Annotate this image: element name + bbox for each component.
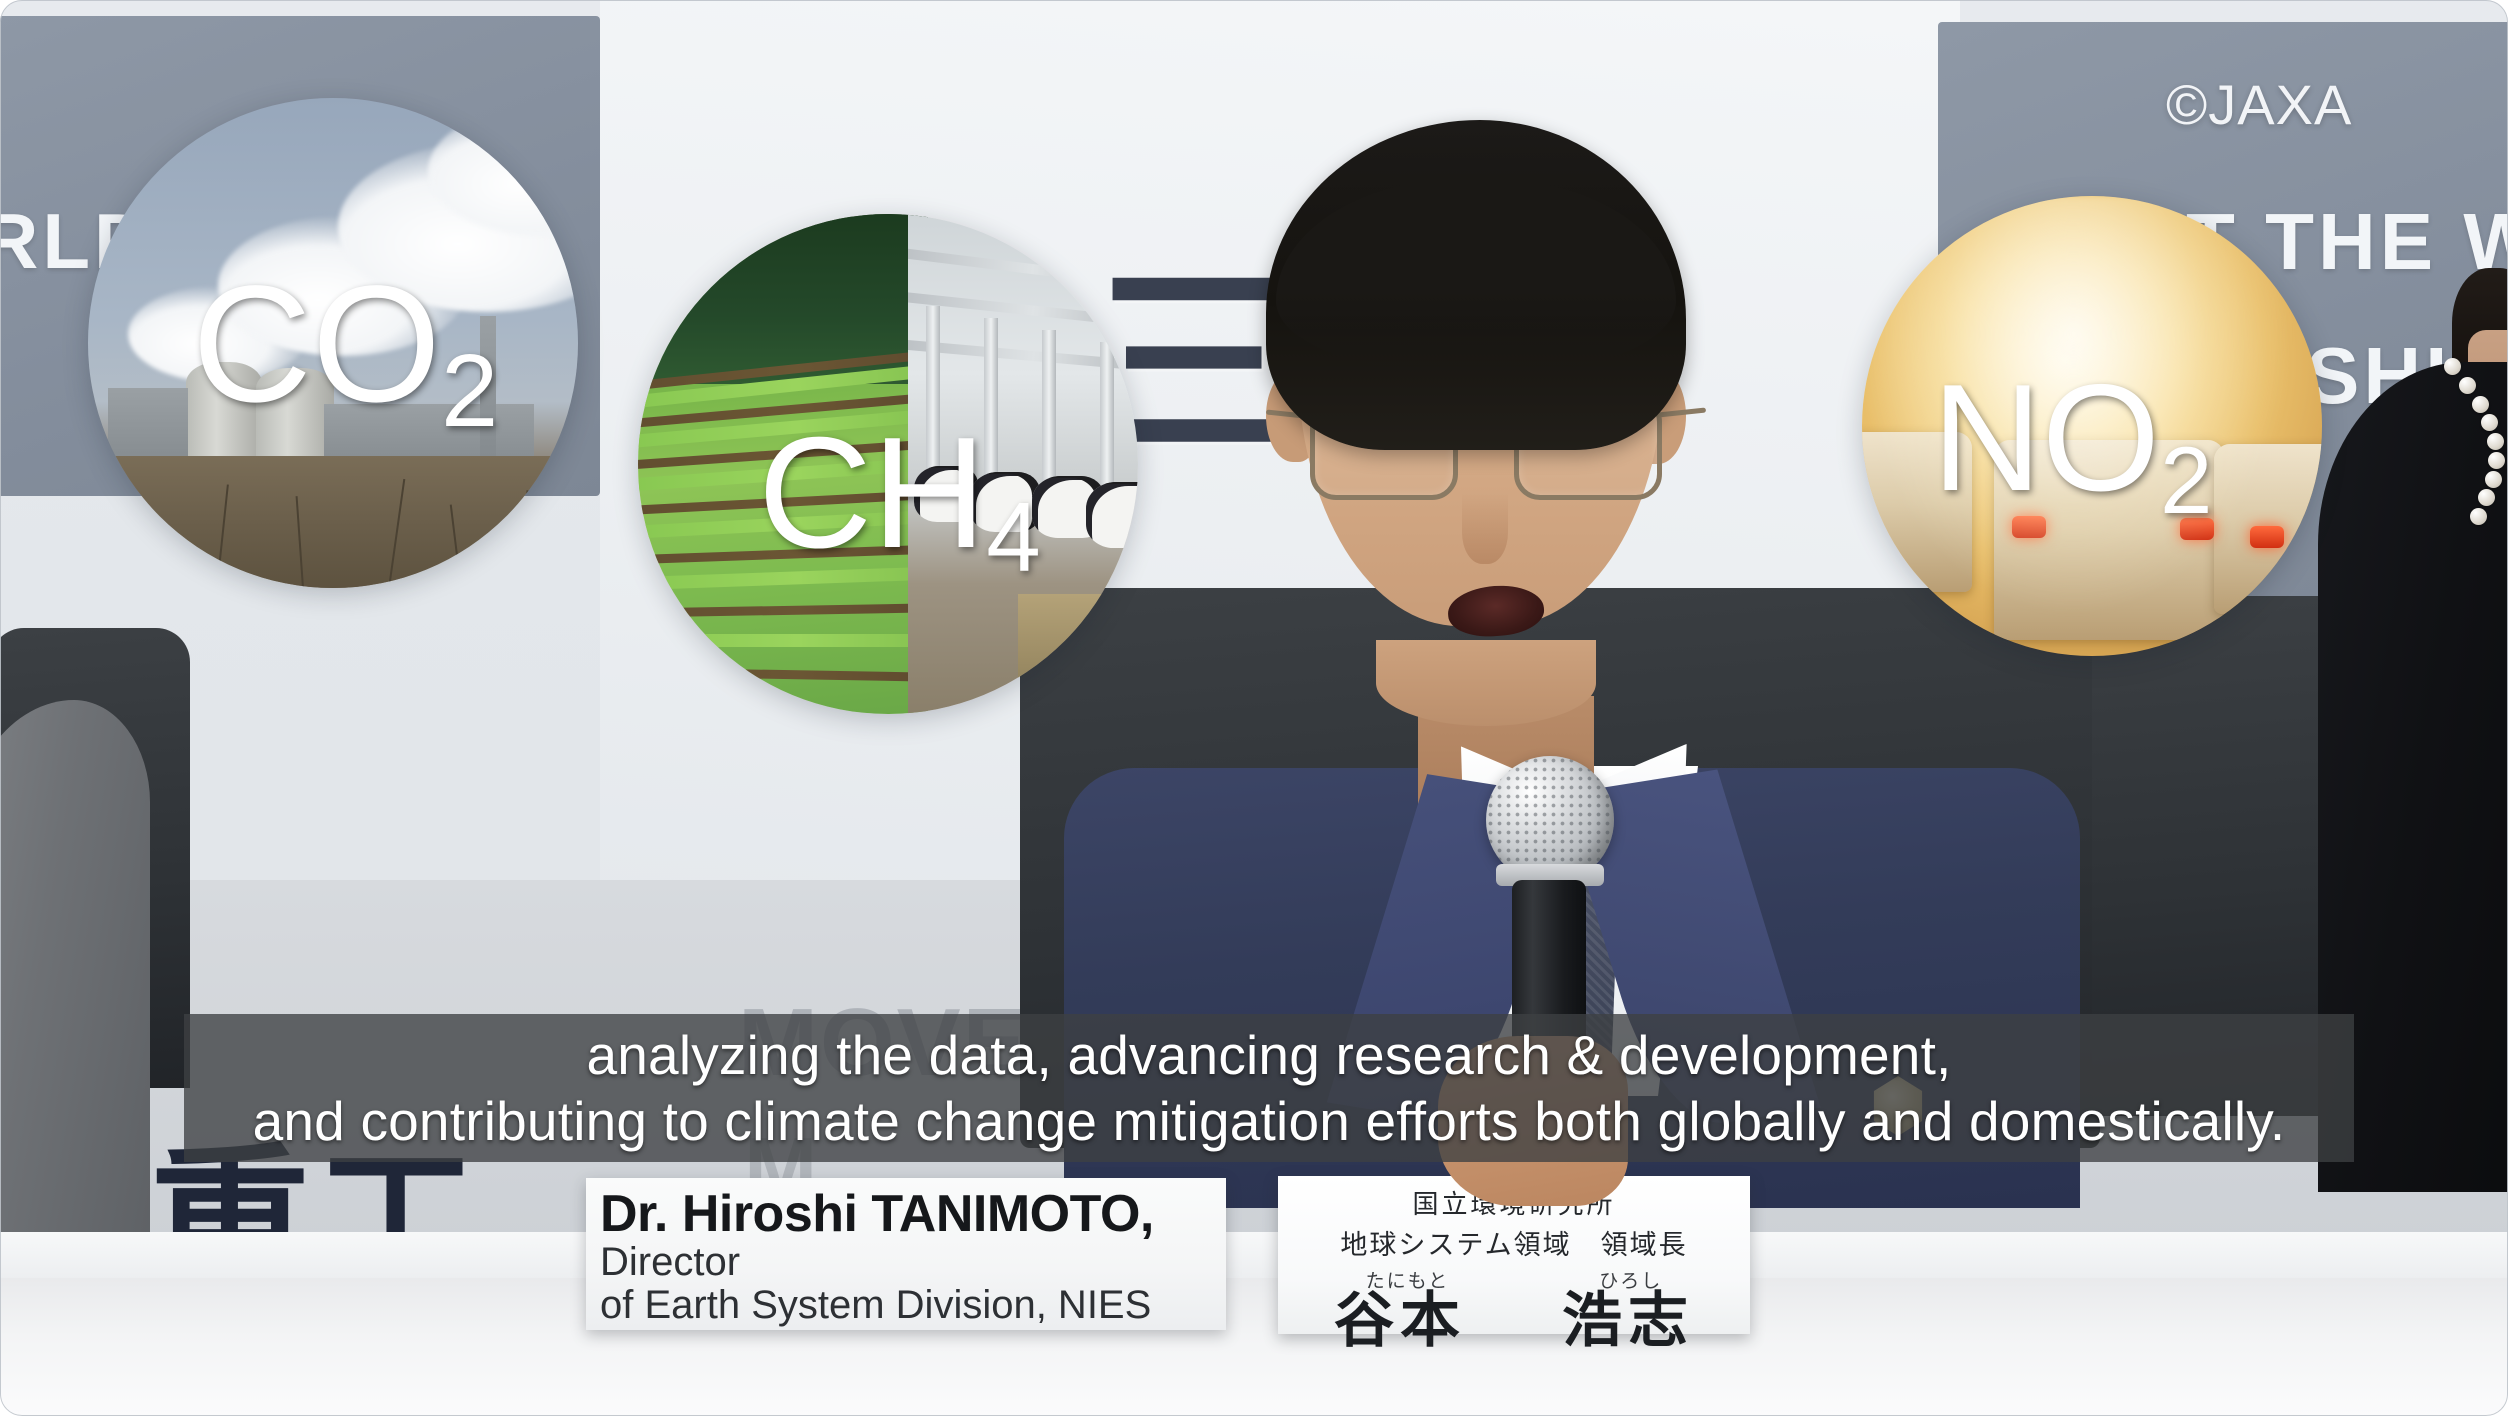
subtitle-bar: analyzing the data, advancing research &…	[184, 1014, 2354, 1162]
pearl-bead	[2459, 377, 2476, 394]
speaker-nose	[1462, 492, 1508, 564]
right-attendee-pearl-necklace	[2438, 358, 2508, 518]
pearl-bead	[2487, 433, 2504, 450]
placard-japanese-name-row: 谷本 浩志	[1278, 1291, 1750, 1351]
gas-formula-ch4-sub: 4	[986, 482, 1040, 592]
desk-top-surface	[0, 1232, 2508, 1280]
co2-foreground-brush	[88, 456, 578, 588]
pearl-bead	[2470, 508, 2487, 525]
jaxa-copyright-watermark: ©JAXA	[2166, 72, 2352, 137]
subtitle-line-2: and contributing to climate change mitig…	[253, 1088, 2286, 1154]
pearl-bead	[2478, 489, 2495, 506]
paddy-row	[638, 601, 928, 619]
placard-english-title-line-1: Director	[600, 1241, 1226, 1283]
placard-japanese-given-name: 浩志	[1562, 1291, 1694, 1351]
gas-label-no2: NO2	[1932, 362, 2212, 514]
barn-roof-beam	[908, 246, 1138, 292]
gas-formula-co2-main: CO	[192, 252, 441, 437]
gas-formula-no2-sub: 2	[2160, 428, 2212, 533]
video-frame: RLD T THE WO BISHI ©JAXA 三菱 MOVE M	[0, 0, 2508, 1416]
gas-formula-co2-sub: 2	[441, 333, 498, 448]
ch4-feed-trough	[1018, 594, 1138, 714]
pearl-bead	[2488, 452, 2505, 469]
gas-formula-no2-main: NO	[1932, 353, 2160, 523]
gas-label-ch4: CH4	[758, 414, 1041, 572]
speaker-chin	[1376, 640, 1596, 726]
gas-formula-ch4-main: CH	[758, 405, 986, 581]
placard-english-title-line-2: of Earth System Division, NIES	[600, 1283, 1226, 1327]
gas-label-co2: CO2	[192, 262, 498, 428]
cow	[1086, 482, 1138, 548]
desk-front-panel	[0, 1278, 2508, 1416]
pearl-bead	[2444, 358, 2461, 375]
paddy-row	[638, 666, 928, 684]
placard-japanese-division: 地球システム領域 領域長	[1278, 1223, 1750, 1262]
placard-japanese-family-name: 谷本	[1334, 1291, 1466, 1351]
barn-roof-beam	[908, 290, 1138, 331]
pearl-bead	[2485, 471, 2502, 488]
subtitle-line-1: analyzing the data, advancing research &…	[586, 1022, 1951, 1088]
paddy-crop-row	[638, 634, 928, 647]
pearl-bead	[2481, 414, 2498, 431]
pearl-bead	[2472, 396, 2489, 413]
placard-english: Dr. Hiroshi TANIMOTO, Director of Earth …	[586, 1178, 1226, 1330]
placard-english-name: Dr. Hiroshi TANIMOTO,	[600, 1188, 1226, 1241]
